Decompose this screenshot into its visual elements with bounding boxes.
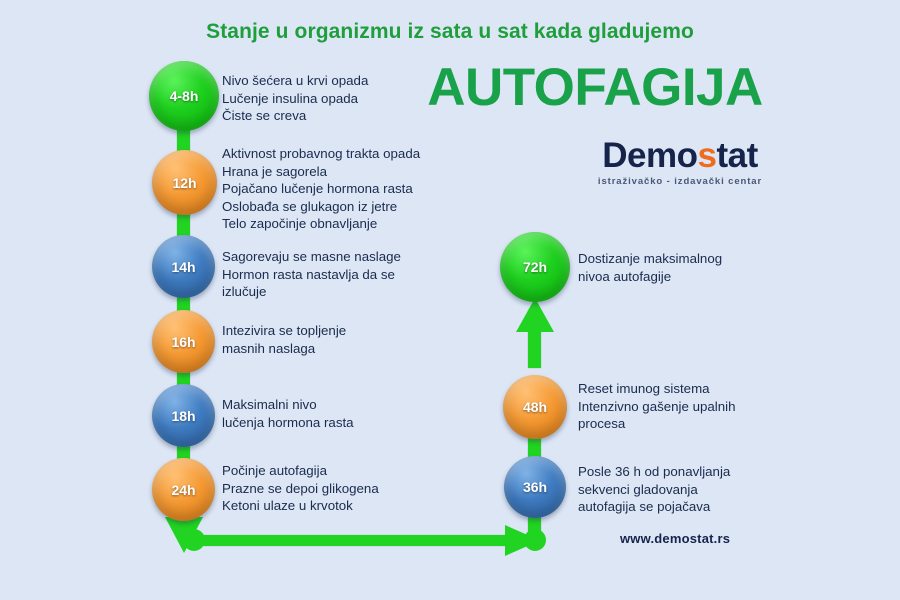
website-link[interactable]: www.demostat.rs (620, 531, 730, 546)
timeline-desc-48h: Reset imunog sistema Intenzivno gašenje … (578, 380, 868, 433)
node-label: 16h (171, 334, 195, 350)
timeline-node-36h[interactable]: 36h (504, 456, 566, 518)
connector-bar-bottom-horizontal (192, 535, 537, 546)
logo-word-highlight: s (698, 136, 717, 175)
node-label: 12h (172, 175, 196, 191)
logo-word-part2: tat (716, 136, 757, 175)
node-label: 18h (171, 408, 195, 424)
timeline-desc-14h: Sagorevaju se masne naslage Hormon rasta… (222, 248, 502, 301)
timeline-node-72h[interactable]: 72h (500, 232, 570, 302)
page-title: Stanje u organizmu iz sata u sat kada gl… (0, 20, 900, 44)
timeline-node-18h[interactable]: 18h (152, 384, 215, 447)
timeline-node-14h[interactable]: 14h (152, 235, 215, 298)
node-label: 4-8h (170, 88, 199, 104)
timeline-desc-24h: Počinje autofagija Prazne se depoi gliko… (222, 462, 502, 515)
logo-tagline: istraživačko - izdavački centar (580, 176, 780, 187)
timeline-node-48h[interactable]: 48h (503, 375, 567, 439)
timeline-node-12h[interactable]: 12h (152, 150, 217, 215)
node-label: 48h (523, 399, 547, 415)
node-label: 36h (523, 479, 547, 495)
demostat-logo: Demostat istraživačko - izdavački centar (580, 138, 780, 187)
node-label: 72h (523, 259, 547, 275)
timeline-desc-16h: Intezivira se topljenje masnih naslaga (222, 322, 502, 357)
logo-wordmark: Demostat (580, 138, 780, 175)
node-label: 14h (171, 259, 195, 275)
connector-bar-right-1 (528, 310, 541, 368)
timeline-desc-4-8h: Nivo šećera u krvi opada Lučenje insulin… (222, 72, 502, 125)
timeline-desc-12h: Aktivnost probavnog trakta opada Hrana j… (222, 145, 522, 233)
timeline-desc-18h: Maksimalni nivo lučenja hormona rasta (222, 396, 502, 431)
logo-word-part1: Demo (602, 136, 697, 175)
infographic-canvas: Stanje u organizmu iz sata u sat kada gl… (0, 0, 900, 600)
timeline-node-16h[interactable]: 16h (152, 310, 215, 373)
timeline-node-4-8h[interactable]: 4-8h (149, 61, 219, 131)
timeline-node-24h[interactable]: 24h (152, 458, 215, 521)
node-label: 24h (171, 482, 195, 498)
timeline-desc-36h: Posle 36 h od ponavljanja sekvenci glado… (578, 463, 878, 516)
timeline-desc-72h: Dostizanje maksimalnog nivoa autofagije (578, 250, 868, 285)
